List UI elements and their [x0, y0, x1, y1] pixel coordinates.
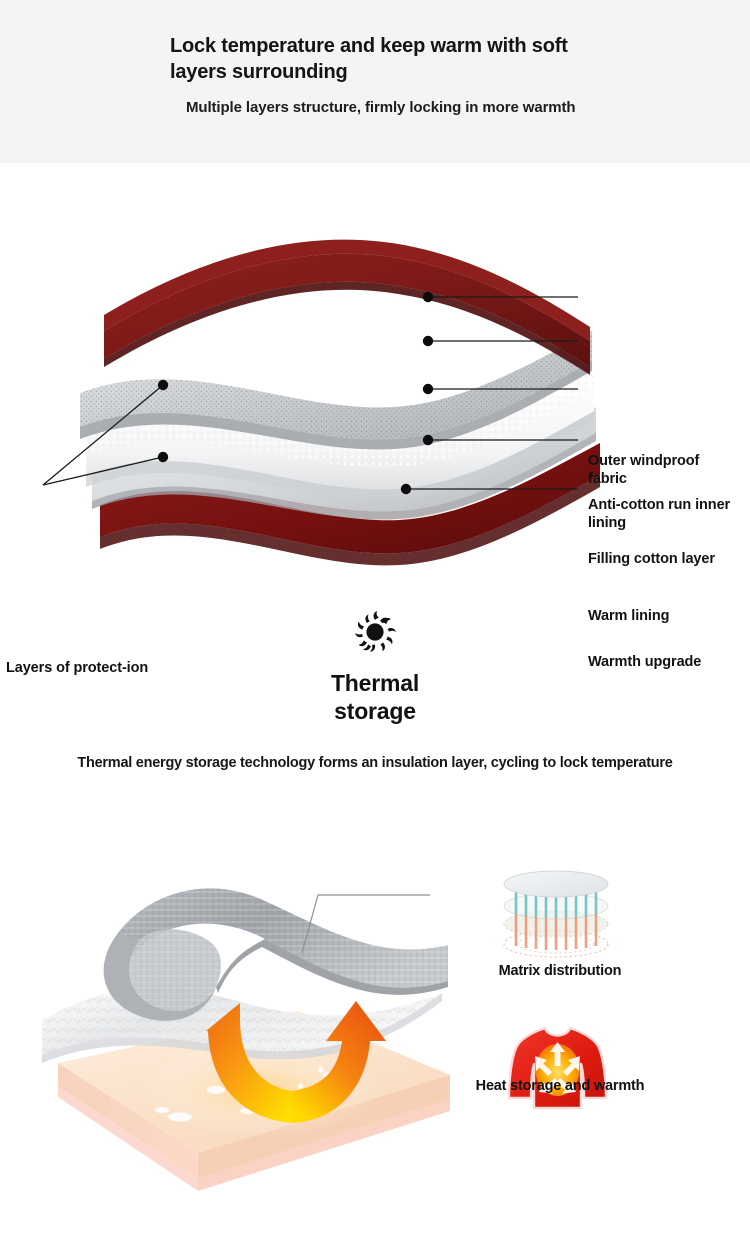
callout-label-filling-cotton-layer: Filling cotton layer [588, 550, 748, 568]
callout-label-anti-cotton-run-inner-lining: Anti-cotton run inner lining [588, 496, 738, 532]
heated-jacket-icon [505, 1020, 610, 1115]
page-subtitle: Multiple layers structure, firmly lockin… [186, 98, 616, 118]
header-band: Lock temperature and keep warm with soft… [0, 0, 750, 163]
thermal-title-line-1: Thermal [0, 669, 750, 697]
thermal-storage-title: Thermal storage [0, 669, 750, 725]
layer-diagram-section: Outer windproof fabric Anti-cotton run i… [0, 175, 750, 575]
heat-storage-warmth-label: Heat storage and warmth [440, 1078, 680, 1094]
callout-label-outer-windproof-fabric: Outer windproof fabric [588, 452, 738, 488]
sun-icon [347, 605, 403, 659]
product-infographic-page: Lock temperature and keep warm with soft… [0, 0, 750, 1242]
thermal-title-line-2: storage [0, 697, 750, 725]
layer-outer-windproof [104, 254, 590, 367]
grey-fabric-layer [104, 888, 448, 1020]
matrix-discs-icon [488, 870, 624, 960]
thermal-storage-section: Thermal storage [0, 605, 750, 735]
matrix-distribution-label: Matrix distribution [455, 963, 665, 979]
bottom-feature-section: Matrix distribution [0, 835, 750, 1242]
page-title: Lock temperature and keep warm with soft… [170, 33, 590, 85]
thermal-storage-caption: Thermal energy storage technology forms … [0, 755, 750, 771]
fabric-heat-cycle-illustration [30, 835, 460, 1235]
